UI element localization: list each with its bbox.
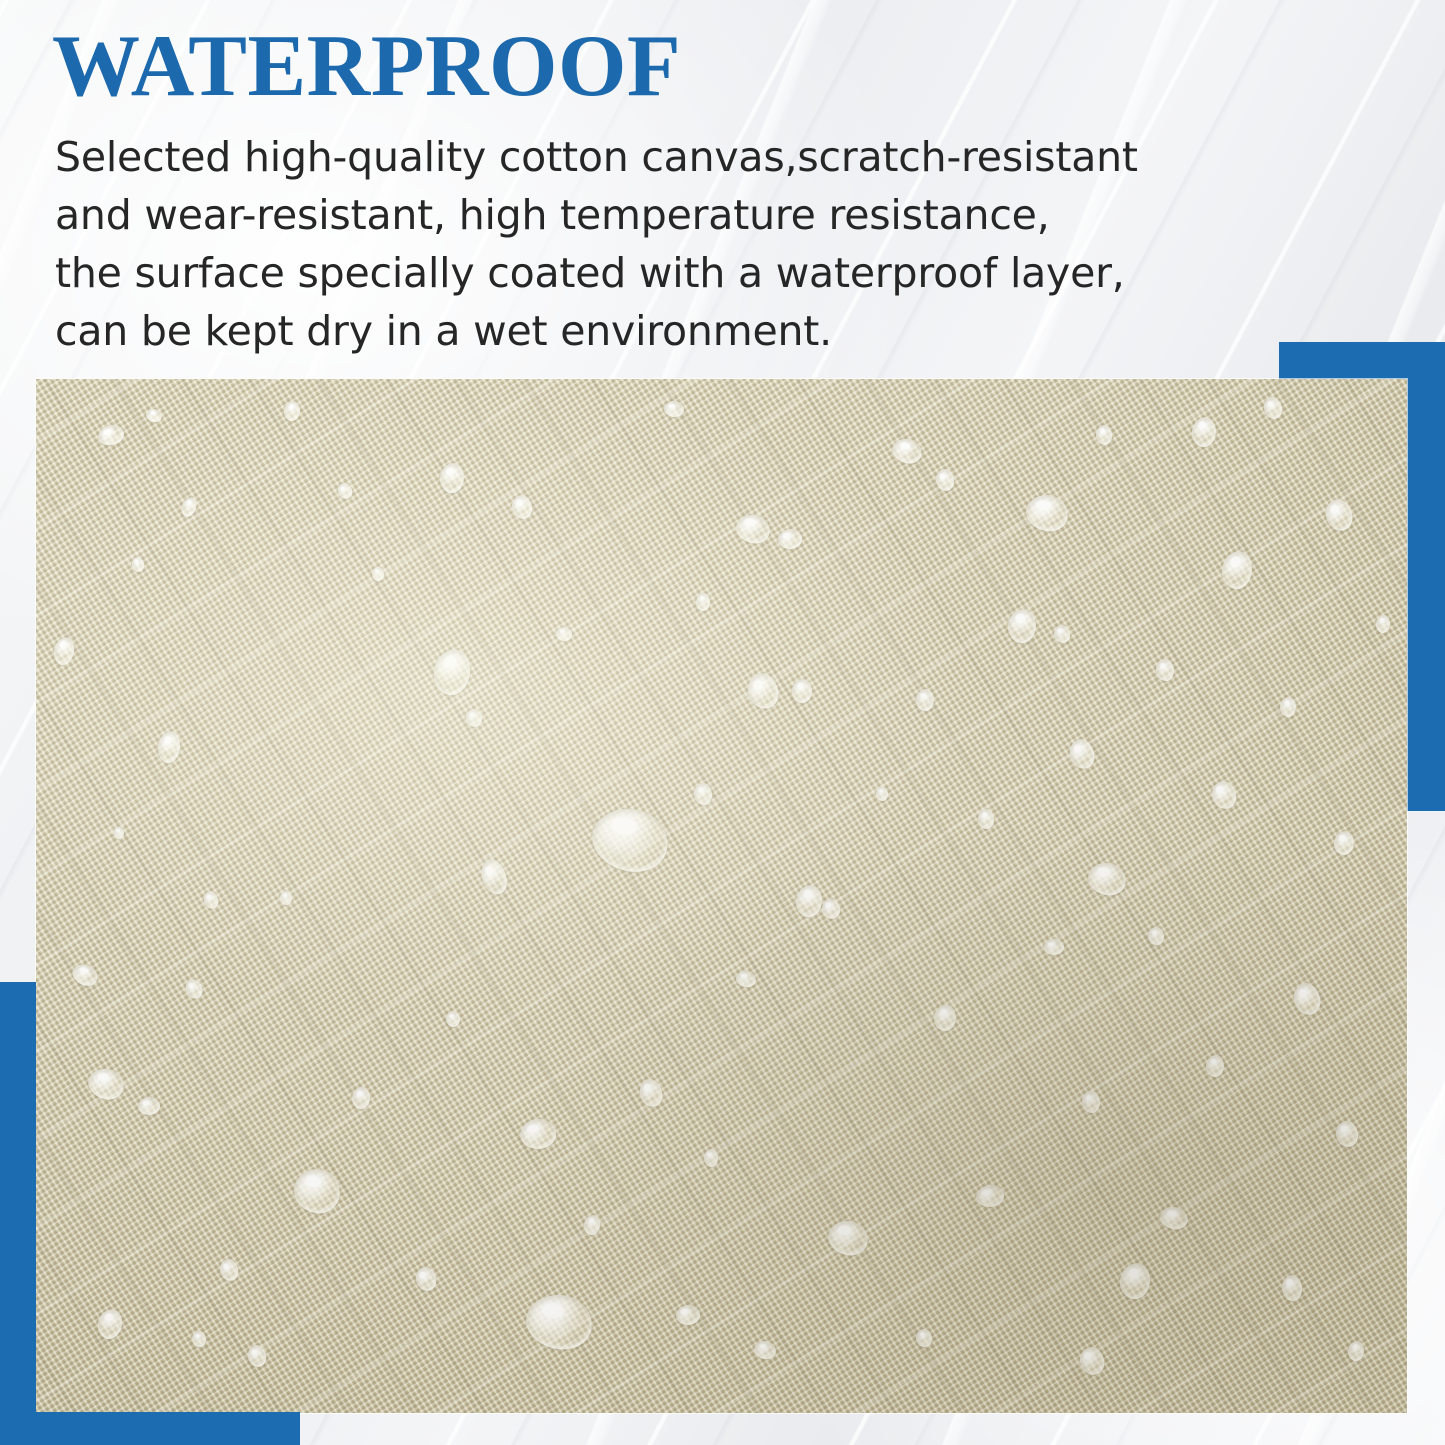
fabric-closeup-photo: [36, 379, 1407, 1413]
fabric-shading-overlay: [36, 379, 1407, 1413]
page-title: WATERPROOF: [52, 23, 681, 111]
description-text-block: Selected high-quality cotton canvas,scra…: [55, 128, 1285, 360]
description-line-2: and wear-resistant, high temperature res…: [55, 186, 1285, 244]
accent-block-bottom-left-vertical: [0, 982, 36, 1445]
description-line-3: the surface specially coated with a wate…: [55, 244, 1285, 302]
accent-block-bottom-left-horizontal: [0, 1412, 300, 1445]
feature-panel: WATERPROOF Selected high-quality cotton …: [0, 0, 1445, 1445]
description-line-4: can be kept dry in a wet environment.: [55, 302, 1285, 360]
description-line-1: Selected high-quality cotton canvas,scra…: [55, 128, 1285, 186]
